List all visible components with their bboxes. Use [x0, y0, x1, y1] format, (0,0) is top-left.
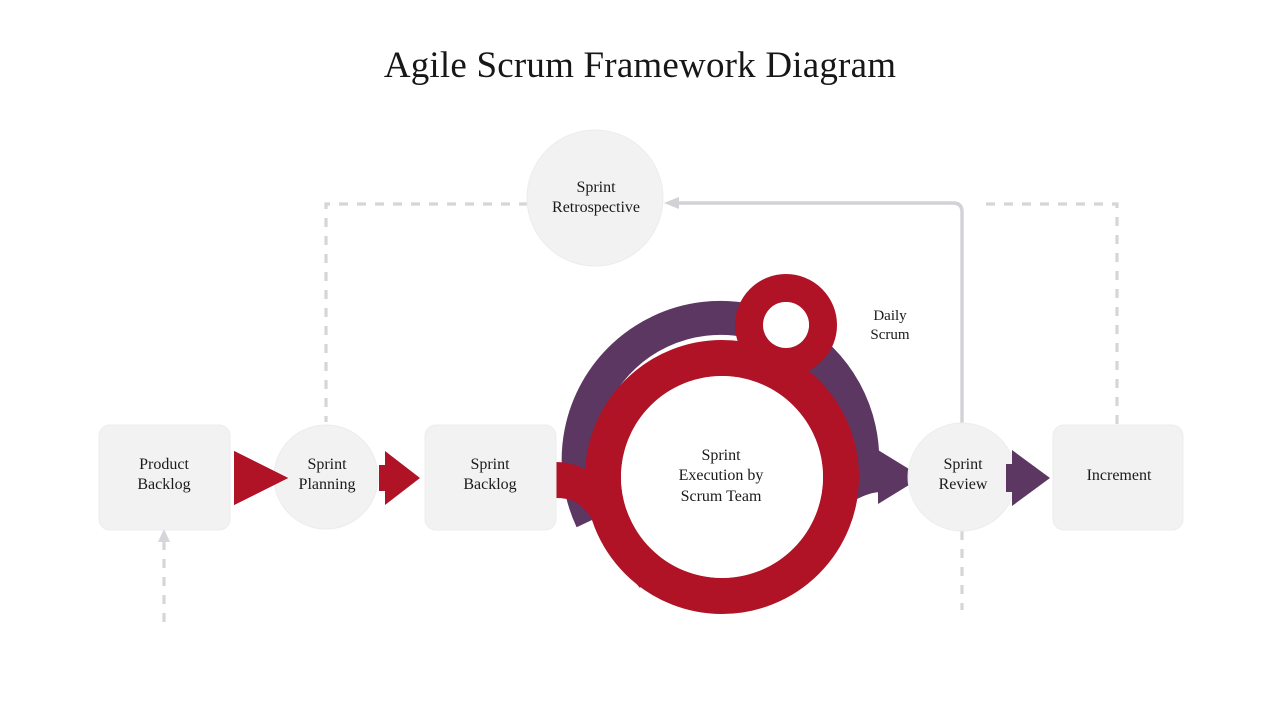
connector-increment-to-retrospective: [985, 204, 1117, 424]
sprint-backlog-shape[interactable]: [425, 425, 556, 530]
connector-into-product-backlog-arrowhead: [158, 529, 170, 542]
arrow-pb-sp-shaft: [234, 465, 258, 491]
sprint-retrospective-shape[interactable]: [527, 130, 663, 266]
scrum-framework-svg: [0, 0, 1280, 720]
diagram-canvas: Agile Scrum Framework Diagram: [0, 0, 1280, 720]
increment-shape[interactable]: [1053, 425, 1183, 530]
arrow-sp-sb-shaft: [379, 465, 395, 491]
connector-retrospective-to-planning: [326, 204, 528, 422]
arrow-review-increment-shaft: [1006, 464, 1020, 492]
connector-review-to-retrospective-arrowhead: [664, 197, 679, 209]
sprint-execution-inner-fill: [621, 376, 823, 578]
daily-scrum-center: [763, 302, 809, 348]
sprint-planning-shape[interactable]: [274, 425, 378, 529]
sprint-review-shape[interactable]: [908, 423, 1016, 531]
product-backlog-shape[interactable]: [99, 425, 230, 530]
